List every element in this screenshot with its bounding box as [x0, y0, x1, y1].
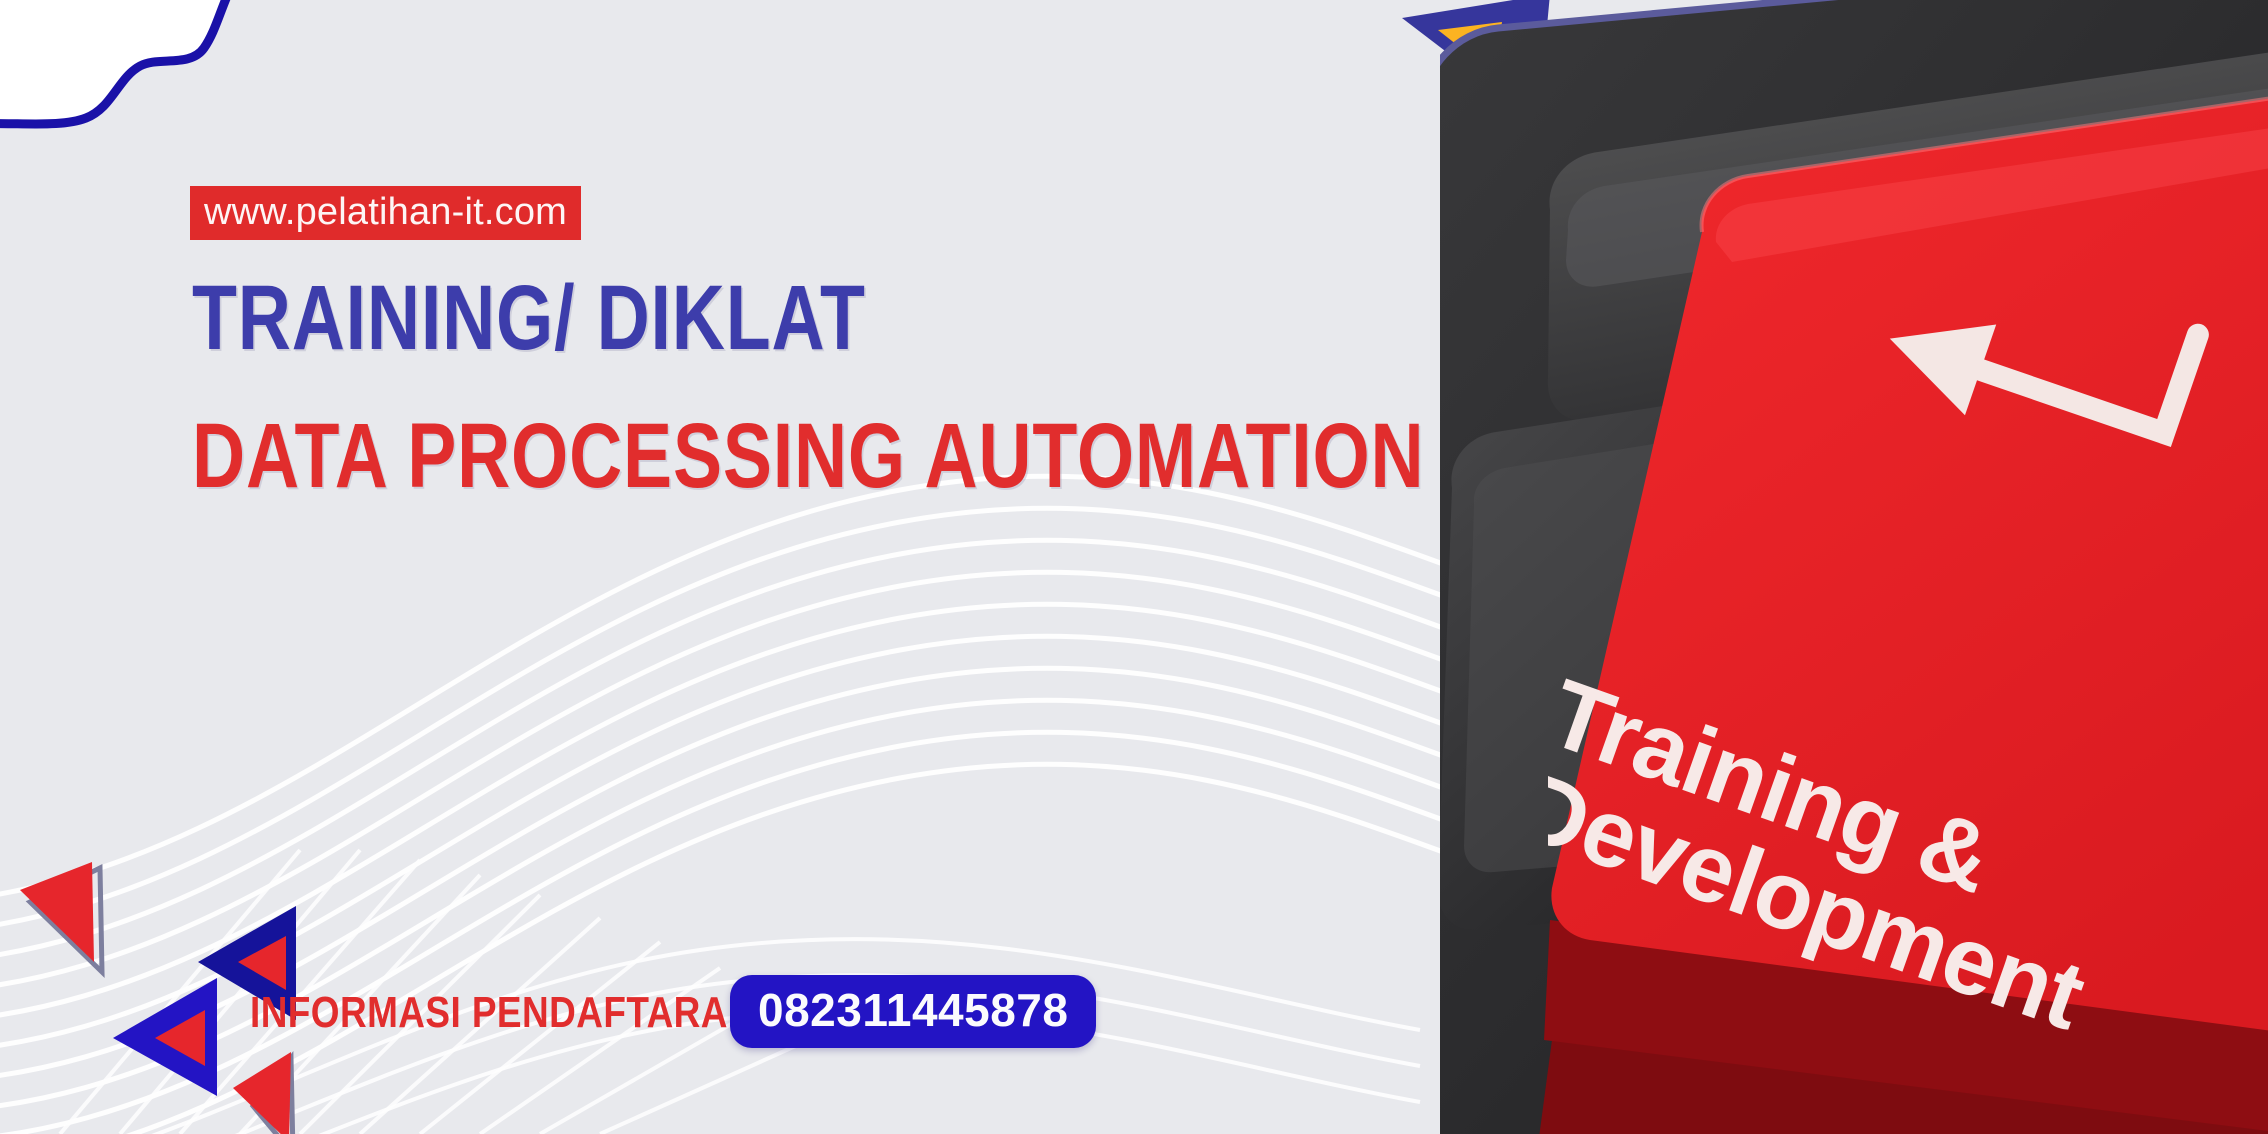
- page-subtitle: DATA PROCESSING AUTOMATION: [192, 410, 1424, 502]
- text-content: www.pelatihan-it.com TRAINING/ DIKLAT DA…: [0, 0, 1100, 1134]
- training-banner: Training & Development www.pelatihan-it.…: [0, 0, 2268, 1134]
- registration-info-label: INFORMASI PENDAFTARAN: [250, 988, 755, 1038]
- website-url-badge[interactable]: www.pelatihan-it.com: [190, 186, 581, 240]
- phone-number-badge[interactable]: 082311445878: [730, 975, 1096, 1048]
- keyboard-illustration: [1440, 0, 2268, 1134]
- page-title: TRAINING/ DIKLAT: [192, 272, 866, 364]
